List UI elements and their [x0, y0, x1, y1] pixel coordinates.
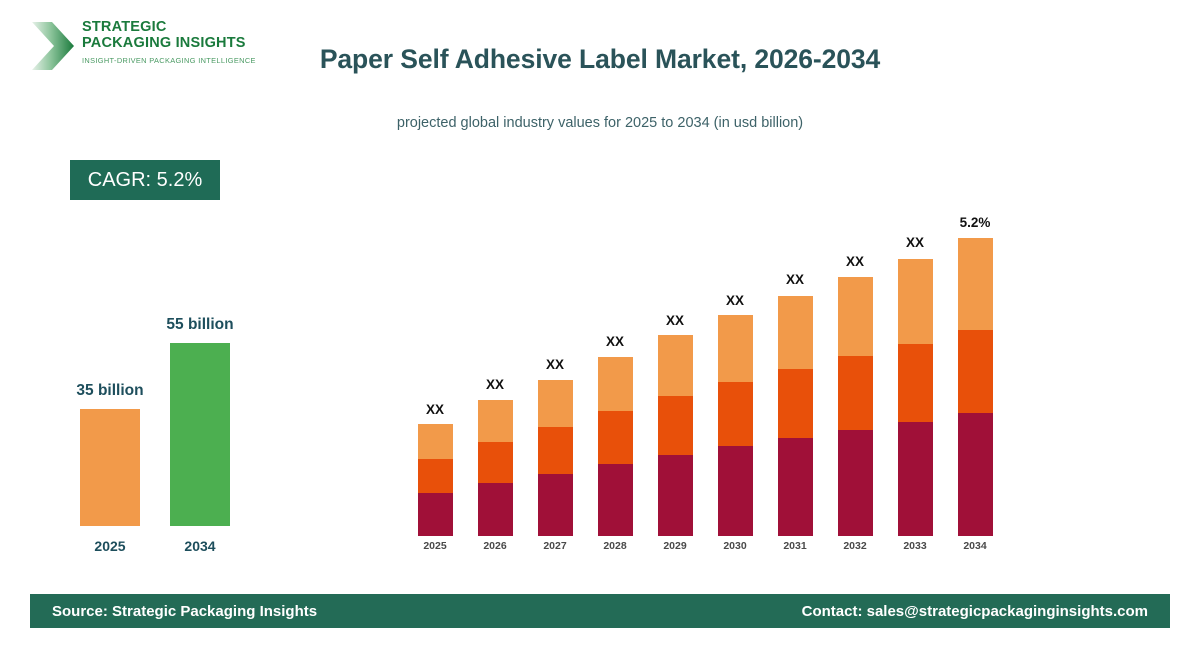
stacked-bar-2027 — [538, 380, 573, 536]
footer-contact[interactable]: Contact: sales@strategicpackaginginsight… — [802, 603, 1148, 620]
footer-source: Source: Strategic Packaging Insights — [52, 603, 317, 620]
stacked-segment-segment-1 — [958, 413, 993, 536]
stacked-segment-segment-3 — [958, 238, 993, 330]
stacked-segment-segment-1 — [478, 483, 513, 536]
cagr-badge: CAGR: 5.2% — [70, 160, 220, 200]
stacked-bar-axis-label-2026: 2026 — [465, 540, 525, 552]
simple-bar-rect — [170, 343, 230, 526]
stacked-bar-value-label-2034: 5.2% — [940, 215, 1010, 230]
stacked-bar-value-label-2026: XX — [460, 377, 530, 392]
stacked-segment-segment-2 — [478, 442, 513, 483]
stacked-bar-2031 — [778, 295, 813, 536]
page-subtitle: projected global industry values for 202… — [240, 115, 960, 131]
stacked-segment-segment-2 — [598, 411, 633, 464]
simple-bar-value-label: 55 billion — [120, 316, 280, 334]
page-title: Paper Self Adhesive Label Market, 2026-2… — [240, 44, 960, 75]
logo-tagline: INSIGHT-DRIVEN PACKAGING INTELLIGENCE — [82, 56, 256, 65]
forecast-stacked-bar-chart: XX2025XX2026XX2027XX2028XX2029XX2030XX20… — [410, 200, 1010, 560]
stacked-bar-2033 — [898, 258, 933, 536]
stacked-segment-segment-3 — [418, 424, 453, 459]
simple-bar-2034 — [170, 343, 230, 526]
stacked-bar-2026 — [478, 400, 513, 536]
logo-line-1: STRATEGIC — [82, 19, 256, 35]
stacked-segment-segment-2 — [718, 382, 753, 446]
simple-bar-axis-label-2034: 2034 — [170, 538, 230, 554]
stacked-bar-value-label-2031: XX — [760, 272, 830, 287]
stacked-bar-axis-label-2033: 2033 — [885, 540, 945, 552]
stacked-segment-segment-1 — [898, 422, 933, 536]
stacked-bar-axis-label-2034: 2034 — [945, 540, 1005, 552]
stacked-bar-axis-label-2029: 2029 — [645, 540, 705, 552]
stacked-segment-segment-3 — [778, 296, 813, 369]
stacked-bar-axis-label-2025: 2025 — [405, 540, 465, 552]
simple-bar-value-label: 35 billion — [30, 382, 190, 400]
stacked-segment-segment-1 — [718, 446, 753, 536]
stacked-bar-value-label-2032: XX — [820, 254, 890, 269]
stacked-segment-segment-2 — [418, 459, 453, 493]
stacked-bar-value-label-2025: XX — [400, 402, 470, 417]
stacked-bar-2028 — [598, 357, 633, 536]
stacked-segment-segment-3 — [718, 315, 753, 382]
simple-bar-2025 — [80, 409, 140, 526]
simple-bar-axis-label-2025: 2025 — [80, 538, 140, 554]
stacked-bar-value-label-2028: XX — [580, 334, 650, 349]
stacked-bar-axis-label-2028: 2028 — [585, 540, 645, 552]
stacked-bar-2030 — [718, 316, 753, 536]
stacked-segment-segment-2 — [538, 427, 573, 474]
stacked-bar-2025 — [418, 425, 453, 536]
stacked-segment-segment-2 — [838, 356, 873, 430]
stacked-bar-axis-label-2027: 2027 — [525, 540, 585, 552]
stacked-segment-segment-1 — [598, 464, 633, 536]
stacked-bar-value-label-2027: XX — [520, 357, 590, 372]
stacked-segment-segment-1 — [778, 438, 813, 536]
stacked-bar-value-label-2029: XX — [640, 313, 710, 328]
stacked-segment-segment-3 — [598, 357, 633, 411]
stacked-segment-segment-1 — [418, 493, 453, 536]
stacked-bar-axis-label-2030: 2030 — [705, 540, 765, 552]
stacked-segment-segment-3 — [838, 277, 873, 356]
footer-bar: Source: Strategic Packaging Insights Con… — [30, 594, 1170, 628]
stacked-bar-value-label-2030: XX — [700, 293, 770, 308]
cagr-badge-label: CAGR: 5.2% — [88, 169, 202, 192]
stacked-segment-segment-1 — [658, 455, 693, 536]
stacked-bar-axis-label-2031: 2031 — [765, 540, 825, 552]
brand-logo: STRATEGIC PACKAGING INSIGHTS INSIGHT-DRI… — [30, 16, 260, 78]
stacked-segment-segment-2 — [958, 330, 993, 413]
stacked-segment-segment-3 — [658, 335, 693, 396]
stacked-segment-segment-3 — [478, 400, 513, 442]
stacked-bar-2032 — [838, 277, 873, 536]
start-end-bar-chart: 35 billion202555 billion2034 — [55, 310, 305, 560]
stacked-bar-2029 — [658, 336, 693, 536]
stacked-bar-value-label-2033: XX — [880, 235, 950, 250]
stacked-segment-segment-2 — [778, 369, 813, 438]
chevron-logo-icon — [30, 20, 76, 72]
stacked-segment-segment-3 — [898, 259, 933, 344]
stacked-segment-segment-2 — [658, 396, 693, 455]
stacked-segment-segment-1 — [538, 474, 573, 536]
stacked-segment-segment-1 — [838, 430, 873, 536]
logo-line-2: PACKAGING INSIGHTS — [82, 35, 256, 51]
stacked-bar-axis-label-2032: 2032 — [825, 540, 885, 552]
simple-bar-rect — [80, 409, 140, 526]
stacked-segment-segment-3 — [538, 380, 573, 427]
stacked-bar-2034 — [958, 238, 993, 536]
stacked-segment-segment-2 — [898, 344, 933, 422]
